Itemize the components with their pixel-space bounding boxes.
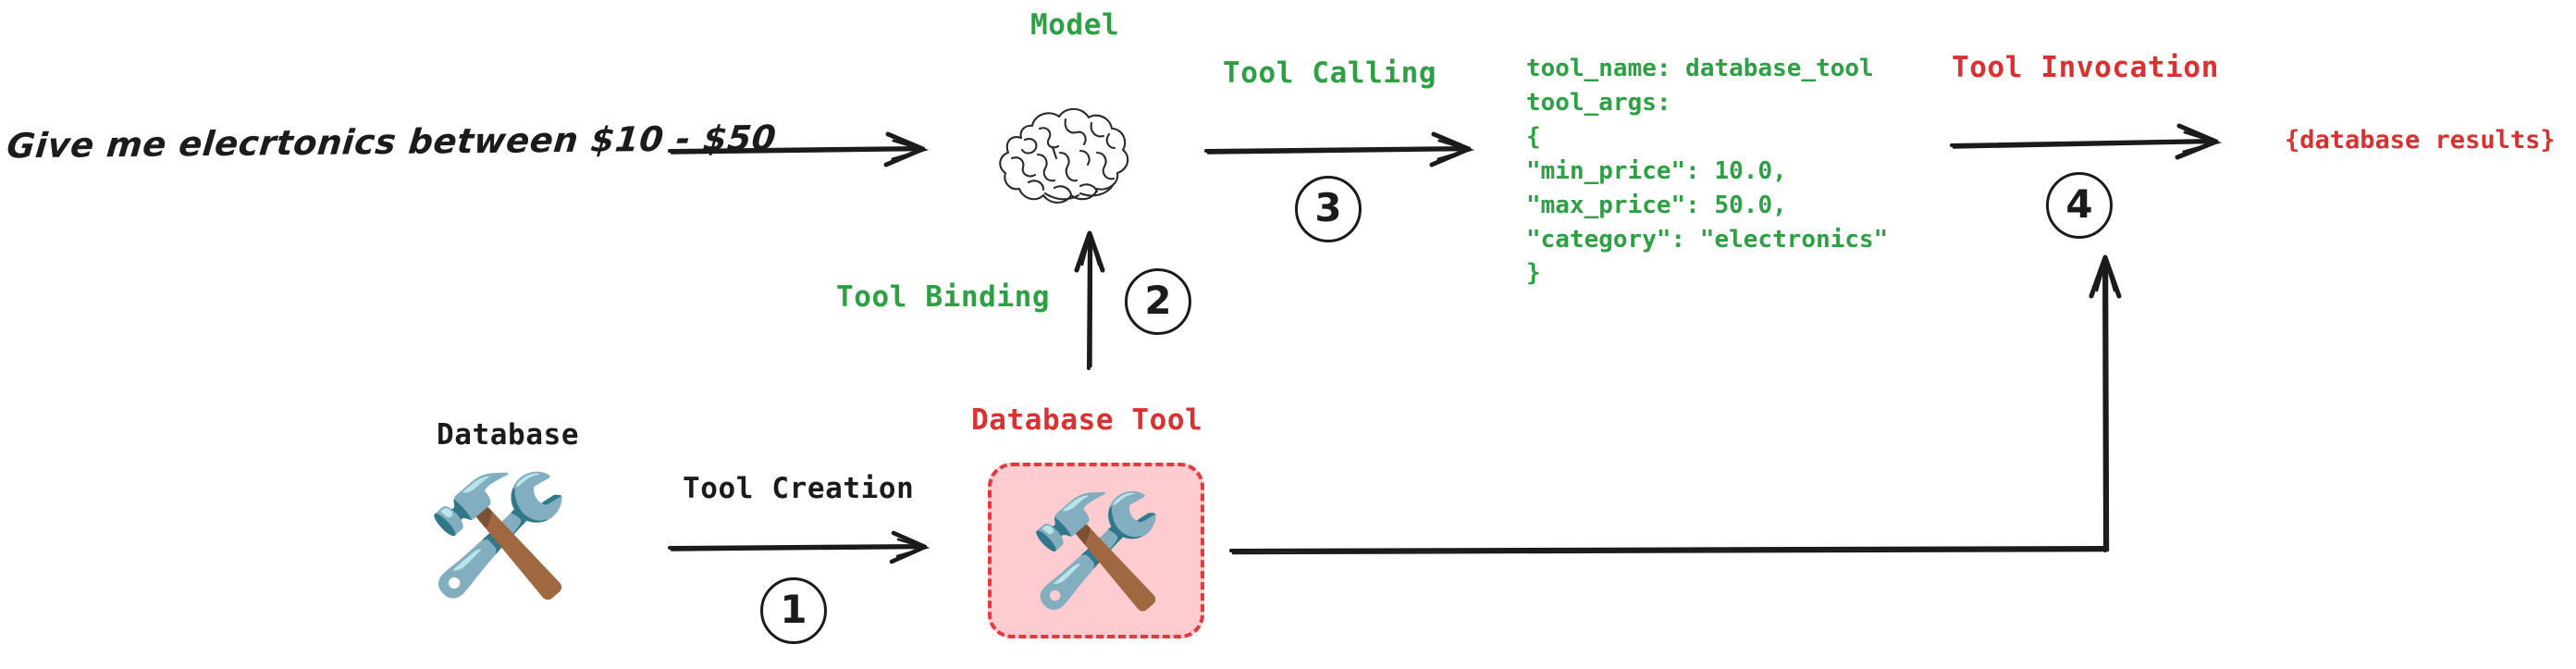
- tool-result-text: {database results}: [2285, 126, 2556, 155]
- step-circle-4: 4: [2046, 172, 2113, 239]
- arrow-tool-result-return: [1226, 242, 2141, 566]
- model-label: Model: [1030, 8, 1119, 42]
- database-tool-box[interactable]: 🛠️: [988, 463, 1204, 638]
- hammer-and-wrench-icon: 🛠️: [425, 477, 571, 594]
- step-number-4: 4: [2065, 185, 2092, 224]
- arrow-tool-binding: [1062, 229, 1117, 370]
- database-label: Database: [437, 418, 579, 452]
- step-circle-3: 3: [1295, 176, 1362, 242]
- database-tool-label: Database Tool: [971, 403, 1202, 437]
- step-circle-2: 2: [1125, 268, 1191, 335]
- arrow-tool-creation: [668, 520, 945, 576]
- arrow-tool-calling: [1204, 122, 1491, 178]
- step-number-2: 2: [1144, 281, 1171, 320]
- arrow-tool-invocation: [1950, 117, 2237, 172]
- user-query-text: Give me elecrtonics between $10 - $50: [6, 118, 779, 167]
- diagram-canvas: Give me elecrtonics between $10 - $50 Mo…: [0, 0, 2576, 669]
- hammer-and-wrench-icon: 🛠️: [1029, 496, 1165, 605]
- arrow-query-to-model: [668, 122, 945, 178]
- tool-creation-label: Tool Creation: [683, 472, 914, 505]
- tool-invocation-label: Tool Invocation: [1952, 51, 2219, 84]
- step-number-3: 3: [1314, 189, 1341, 228]
- brain-sketch-icon: [988, 97, 1154, 210]
- step-number-1: 1: [780, 590, 807, 629]
- step-circle-1: 1: [760, 577, 827, 644]
- tool-calling-label: Tool Calling: [1223, 56, 1436, 90]
- tool-binding-label: Tool Binding: [836, 280, 1050, 314]
